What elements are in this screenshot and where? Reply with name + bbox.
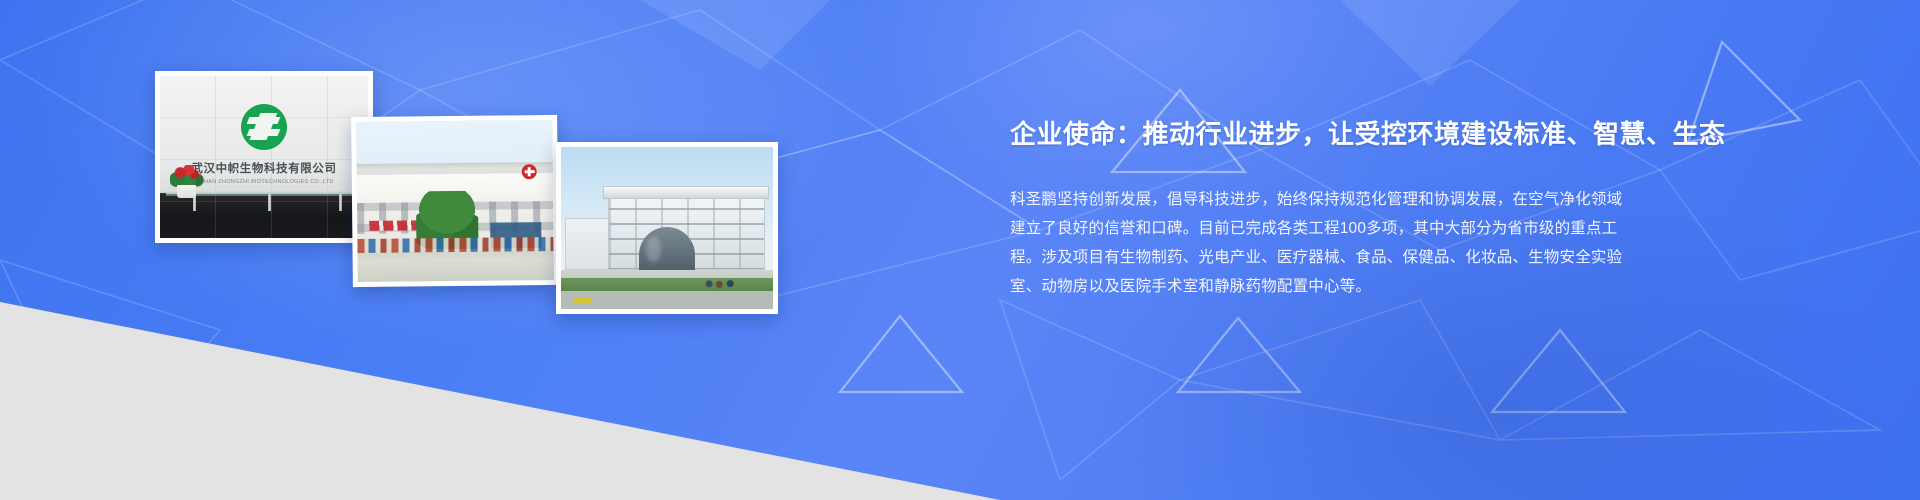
photo-card-hospital[interactable] (351, 115, 559, 287)
photo-collage: 武汉中帜生物科技有限公司 WUHAN ZHONGZHI BIOTECHNOLOG… (0, 0, 820, 500)
mission-body-paragraph: 科圣鹏坚持创新发展，倡导科技进步，始终保持规范化管理和协调发展，在空气净化领域建… (1010, 185, 1628, 301)
lobby-floor-reflection (160, 193, 368, 238)
zhongzhi-logo-icon (241, 104, 287, 150)
hospital-ground (358, 248, 554, 282)
modern-car (574, 297, 591, 304)
hospital-parked-vehicles (357, 237, 553, 253)
mission-body: 科圣鹏坚持创新发展，倡导科技进步，始终保持规范化管理和协调发展，在空气净化领域建… (1010, 185, 1628, 301)
photo-card-lobby[interactable]: 武汉中帜生物科技有限公司 WUHAN ZHONGZHI BIOTECHNOLOG… (155, 71, 373, 243)
company-mission-banner: 武汉中帜生物科技有限公司 WUHAN ZHONGZHI BIOTECHNOLOG… (0, 0, 1920, 500)
mission-title: 企业使命：推动行业进步，让受控环境建设标准、智慧、生态 (1010, 118, 1890, 151)
photo-modern-building-image (561, 147, 773, 309)
modern-pedestrians (705, 279, 739, 291)
photo-hospital-image (356, 120, 554, 282)
photo-card-modern-building[interactable] (556, 142, 778, 314)
modern-roof-canopy (603, 186, 768, 199)
mission-copy-block: 企业使命：推动行业进步，让受控环境建设标准、智慧、生态 科圣鹏坚持创新发展，倡导… (1010, 118, 1890, 301)
photo-lobby-image: 武汉中帜生物科技有限公司 WUHAN ZHONGZHI BIOTECHNOLOG… (160, 76, 368, 238)
modern-road (561, 291, 773, 309)
